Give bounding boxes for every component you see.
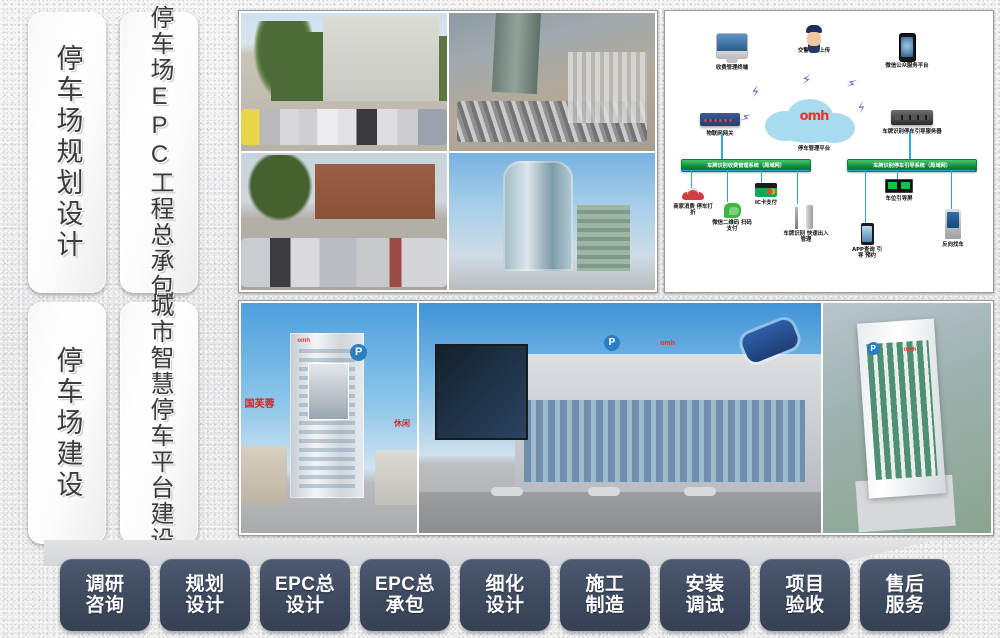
branch-line	[797, 170, 798, 204]
leaf-label: 车位引导屏	[881, 196, 917, 202]
rack-server-icon	[891, 110, 933, 125]
omh-logo: omh	[904, 347, 917, 353]
leaf-label: 微信二维码 扫码支付	[711, 220, 753, 232]
system-bar-label: 车牌识别收费管理系统（局域网）	[707, 162, 785, 169]
process-step-acceptance[interactable]: 项目 验收	[760, 559, 850, 631]
photo-aerial-parking	[449, 13, 655, 151]
network-gateway-icon	[700, 113, 740, 126]
node-label: 停车管理平台	[769, 146, 859, 152]
service-card-list: 停车场规划设计 停车场EPC工程总承包 停车场建设 城市智慧停车平台建设	[14, 6, 204, 538]
low-building-right	[375, 450, 417, 505]
link-line	[909, 131, 911, 159]
node-label: 收费管理终端	[697, 65, 767, 71]
car-shape	[684, 487, 716, 496]
parking-p-sign: P	[350, 344, 367, 361]
node-charging-terminal: 收费管理终端	[697, 33, 767, 71]
process-step-manufacturing[interactable]: 施工 制造	[560, 559, 650, 631]
leaf-label: 车牌识别 快速出入管理	[783, 231, 829, 243]
cloud-platform: omh	[765, 97, 863, 145]
branch-line	[691, 170, 692, 188]
rendering-panel: P omh 国芙蓉 休闲 P omh P omh	[238, 300, 994, 536]
card-label: 停车场EPC工程总承包	[147, 5, 171, 300]
glass-facade	[524, 400, 805, 483]
omh-logo: omh	[800, 109, 829, 124]
cars-row	[241, 238, 447, 288]
rendering-aerial-tower: P omh	[823, 303, 991, 533]
leaf-label: 反向找车	[937, 242, 969, 248]
process-step-installation[interactable]: 安装 调试	[660, 559, 750, 631]
monitor-icon	[716, 33, 748, 59]
process-step-epc-design[interactable]: EPC总 设计	[260, 559, 350, 631]
node-label: 车牌识别停车引导服务器	[865, 129, 959, 135]
process-step-epc-contract[interactable]: EPC总 承包	[360, 559, 450, 631]
billboard-screen	[435, 344, 527, 440]
leaf-app-query: APP查询 引导 预约	[851, 223, 883, 259]
leaf-reverse-car-finding: 反向找车	[937, 209, 969, 248]
photo-glass-tower	[449, 153, 655, 291]
process-step-list: 调研 咨询 规划 设计 EPC总 设计 EPC总 承包 细化 设计 施工 制造 …	[60, 559, 950, 631]
process-step-detailed-design[interactable]: 细化 设计	[460, 559, 550, 631]
cars-row	[241, 109, 447, 145]
low-building-left	[241, 446, 287, 506]
photo-brick-building-lot	[241, 153, 447, 291]
cloud-platform-label-node: 停车管理平台	[769, 146, 859, 152]
node-plate-guidance-server: 车牌识别停车引导服务器	[865, 110, 959, 135]
system-architecture-diagram: omh 停车管理平台 收费管理终端 交警车牌上传 微信公众服务平台 物联网网关 …	[664, 10, 994, 293]
node-wechat-public-platform: 微信公众服务平台	[865, 33, 949, 69]
bolt-icon: ⚡	[749, 84, 762, 99]
card-label: 停车场规划设计	[54, 44, 81, 261]
branch-line	[761, 170, 762, 184]
omh-logo: omh	[297, 338, 310, 344]
wechat-icon	[724, 203, 741, 218]
node-label: 物联网网关	[689, 131, 751, 137]
photo-grid	[238, 10, 658, 293]
branch-line	[951, 170, 952, 210]
rendering-parking-tower: P omh 国芙蓉 休闲	[241, 303, 417, 533]
street-sign-main: 国芙蓉	[245, 395, 275, 410]
link-line	[721, 133, 723, 159]
card-label: 停车场建设	[54, 346, 81, 501]
card-smart-parking-platform[interactable]: 城市智慧停车平台建设	[120, 302, 198, 544]
mobile-app-icon	[861, 223, 874, 245]
node-traffic-police-upload: 交警车牌上传	[781, 25, 847, 54]
cars-row	[457, 101, 647, 142]
rendering-mechanical-garage: P omh	[419, 303, 821, 533]
barrier-gate-icon	[793, 203, 819, 229]
smartphone-icon	[899, 33, 916, 62]
leaf-label: APP查询 引导 预约	[851, 247, 883, 259]
parking-p-sign: P	[604, 335, 620, 351]
leaf-ic-card-pay: IC卡支付	[747, 183, 785, 206]
node-label: 交警车牌上传	[781, 48, 847, 54]
card-label: 城市智慧停车平台建设	[147, 293, 171, 553]
card-parking-epc-contract[interactable]: 停车场EPC工程总承包	[120, 12, 198, 293]
leaf-merchant-discount: 商家消费 停车打折	[673, 188, 713, 216]
billboard-ad	[308, 363, 349, 420]
road-strip	[419, 492, 821, 533]
branch-line	[865, 170, 866, 224]
photo-parking-lot-trees	[241, 13, 447, 151]
car-shape	[588, 487, 620, 496]
car-shape	[491, 487, 523, 496]
leaf-label: IC卡支付	[747, 200, 785, 206]
leaf-space-guidance-screen: 车位引导屏	[881, 179, 917, 202]
red-car-icon	[682, 188, 704, 202]
node-label: 微信公众服务平台	[865, 63, 949, 69]
process-step-research[interactable]: 调研 咨询	[60, 559, 150, 631]
branch-line	[727, 170, 728, 202]
police-officer-icon	[804, 25, 824, 47]
leaf-wechat-qr-pay: 微信二维码 扫码支付	[711, 203, 753, 232]
leaf-label: 商家消费 停车打折	[673, 204, 713, 216]
branch-bus	[681, 170, 809, 171]
bolt-icon: ⚡	[845, 76, 858, 91]
bolt-icon: ⚡	[802, 73, 811, 86]
ic-card-icon	[755, 183, 777, 197]
parking-p-sign: P	[867, 342, 880, 355]
card-parking-planning-design[interactable]: 停车场规划设计	[28, 12, 106, 293]
process-step-planning[interactable]: 规划 设计	[160, 559, 250, 631]
led-guidance-screen-icon	[885, 179, 913, 193]
omh-logo: omh	[660, 340, 675, 347]
street-sign-sub: 休闲	[394, 418, 410, 429]
process-step-after-sales[interactable]: 售后 服务	[860, 559, 950, 631]
system-bar-label: 车牌识别停车引导系统（局域网）	[873, 162, 951, 169]
kiosk-icon	[945, 209, 961, 239]
card-parking-construction[interactable]: 停车场建设	[28, 302, 106, 544]
leaf-plate-fast-access: 车牌识别 快速出入管理	[783, 203, 829, 243]
